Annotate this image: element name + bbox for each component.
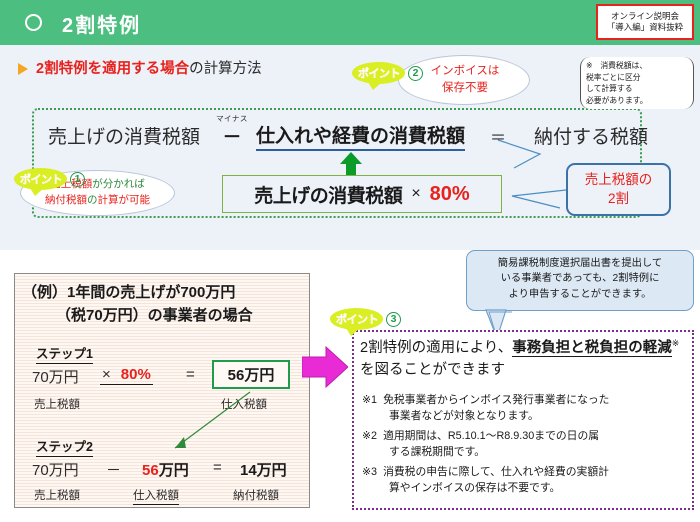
formula-minus-group: マイナス －: [215, 113, 249, 149]
formula-equals-sign: ＝: [490, 124, 506, 148]
callout-point1-l2b: の: [87, 194, 98, 206]
formula-term-purchase-tax: 仕入れや経費の消費税額: [256, 121, 465, 151]
step2-value-b-number: 56: [142, 462, 159, 479]
slide-header: 2割特例: [0, 0, 700, 45]
footnote-3-line1: 消費税の申告に際して、仕入れや経費の実額計: [383, 466, 609, 478]
step2-label: ステップ2: [36, 436, 93, 457]
step2-label-payable-tax: 納付税額: [233, 487, 279, 503]
page-title: 2割特例: [62, 9, 141, 38]
step1-label-sales-tax: 売上税額: [34, 396, 80, 412]
step2-value-b: 56万円: [142, 459, 189, 480]
footnote-1-line1: 免税事業者からインボイス発行事業者になった: [383, 394, 609, 406]
eighty-percent-formula-box: 売上げの消費税額 × 80%: [222, 175, 502, 213]
step1-label: ステップ1: [36, 343, 93, 364]
note-line-2: 税率ごとに区分: [586, 72, 688, 84]
formula-box-percent: 80%: [430, 183, 470, 206]
subtitle-dark-part: の計算方法: [189, 61, 262, 77]
note-line-1: ※ 消費税額は、: [586, 60, 688, 72]
speech-line1: 簡易課税制度選択届出書を提出して: [474, 256, 686, 271]
example-title-line2: （税70万円）の事業者の場合: [22, 304, 253, 327]
benefit-mark: ※: [672, 338, 680, 348]
corner-source-note: オンライン説明会 「導入編」資料抜粋: [596, 4, 694, 40]
triangle-right-icon: [18, 63, 28, 75]
step1-operator-group: ×80%: [100, 366, 153, 385]
formula-minus-sign: －: [215, 122, 249, 149]
footnote-2-line2: する課税期間です。: [362, 444, 688, 460]
point-label-3: ポイント: [336, 311, 378, 327]
step2-label-purchase-tax: 仕入税額: [133, 487, 179, 505]
section-subtitle: 2割特例を適用する場合の計算方法: [36, 57, 262, 78]
corner-note-line2: 「導入編」資料抜粋: [607, 22, 684, 33]
speech-bubble-simplified-tax: 簡易課税制度選択届出書を提出して いる事業者であっても、2割特例に より申告する…: [466, 250, 694, 311]
point-label-1: ポイント: [20, 171, 62, 187]
step1-equals: =: [186, 366, 195, 383]
footnote-2-line1: 適用期間は、R5.10.1〜R8.9.30までの日の属: [383, 430, 599, 442]
step2-operator: －: [106, 459, 121, 480]
step2-value-a: 70万円: [32, 459, 79, 480]
step1-operator: ×: [102, 366, 111, 383]
step1-result: 56万円: [228, 364, 275, 385]
point-bubble-shape: ポイント: [330, 308, 383, 330]
formula-term-payable-tax: 納付する税額: [534, 122, 648, 149]
callout-point1-line2: 納付税額の計算が可能: [22, 193, 173, 209]
callout-point2-text: インボイスは 保存不要: [406, 63, 524, 96]
step2-label-sales-tax: 売上税額: [34, 487, 80, 503]
example-title-line1: （例）1年間の売上げが700万円: [22, 284, 235, 301]
footnote-2-marker: ※2: [362, 430, 377, 442]
result-badge-line1: 売上税額の: [585, 171, 653, 189]
slide-canvas: 2割特例 オンライン説明会 「導入編」資料抜粋 2割特例を適用する場合の計算方法…: [0, 0, 700, 522]
speech-line3: より申告することができます。: [474, 287, 686, 302]
footnote-3: ※3 消費税の申告に際して、仕入れや経費の実額計 算やインボイスの保存は不要です…: [362, 464, 688, 496]
footnote-3-line2: 算やインボイスの保存は不要です。: [362, 480, 688, 496]
point-tag-3: ポイント 3: [330, 308, 401, 330]
note-line-4: 必要があります。: [586, 95, 688, 107]
point-number-1: 1: [70, 172, 85, 187]
benefit-statement: 2割特例の適用により、事務負担と税負担の軽減※を図ることができます: [360, 337, 690, 382]
footnote-1: ※1 免税事業者からインボイス発行事業者になった 事業者などが対象となります。: [362, 392, 688, 424]
point-tag-1: ポイント 1: [14, 168, 85, 190]
step1-label-purchase-tax: 仕入税額: [221, 396, 267, 412]
formula-term-sales-tax: 売上げの消費税額: [48, 122, 200, 149]
result-badge-two-wari: 売上税額の 2割: [566, 163, 671, 216]
callout-point1-l1b: が分かれば: [92, 178, 145, 190]
result-badge-line2: 2割: [608, 190, 629, 208]
callout-point2-line2: 保存不要: [406, 80, 524, 97]
footnote-3-marker: ※3: [362, 466, 377, 478]
benefit-suffix: を図ることができます: [360, 362, 505, 378]
formula-box-times: ×: [411, 185, 420, 203]
point-bubble-shape: ポイント: [14, 168, 67, 190]
speech-line2: いる事業者であっても、2割特例に: [474, 271, 686, 286]
example-title: （例）1年間の売上げが700万円 （税70万円）の事業者の場合: [22, 281, 253, 328]
footnote-1-marker: ※1: [362, 394, 377, 406]
point-number-3: 3: [386, 312, 401, 327]
point-bubble-shape: ポイント: [352, 62, 405, 84]
point-number-2: 2: [408, 66, 423, 81]
tax-rate-note-box: ※ 消費税額は、 税率ごとに区分 して計算する 必要があります。: [580, 57, 694, 109]
corner-note-line1: オンライン説明会: [611, 11, 679, 22]
arrow-right-icon: [302, 345, 348, 389]
step2-result: 14万円: [240, 459, 287, 480]
arrow-up-icon: [340, 152, 362, 176]
circle-outline-icon: [25, 14, 42, 31]
note-line-3: して計算する: [586, 83, 688, 95]
benefit-prefix: 2割特例の適用により、: [360, 340, 512, 356]
step2-value-b-unit: 万円: [159, 462, 189, 479]
formula-box-term: 売上げの消費税額: [254, 181, 402, 208]
callout-point1-l2a: 納付税額: [45, 194, 87, 206]
footnote-1-line2: 事業者などが対象となります。: [362, 408, 688, 424]
callout-point1-l2c: 計算が可能: [98, 194, 151, 206]
step1-rate: 80%: [121, 366, 151, 383]
subtitle-red-part: 2割特例を適用する場合: [36, 61, 189, 77]
step2-equals: =: [213, 459, 222, 476]
footnote-2: ※2 適用期間は、R5.10.1〜R8.9.30までの日の属 する課税期間です。: [362, 428, 688, 460]
point-label-2: ポイント: [358, 65, 400, 81]
step1-value-a: 70万円: [32, 366, 79, 387]
benefit-emphasis: 事務負担と税負担の軽減: [512, 340, 672, 357]
step1-result-box: 56万円: [212, 360, 290, 389]
callout-point2-line1: インボイスは: [406, 63, 524, 80]
point-tag-2: ポイント 2: [352, 62, 423, 84]
